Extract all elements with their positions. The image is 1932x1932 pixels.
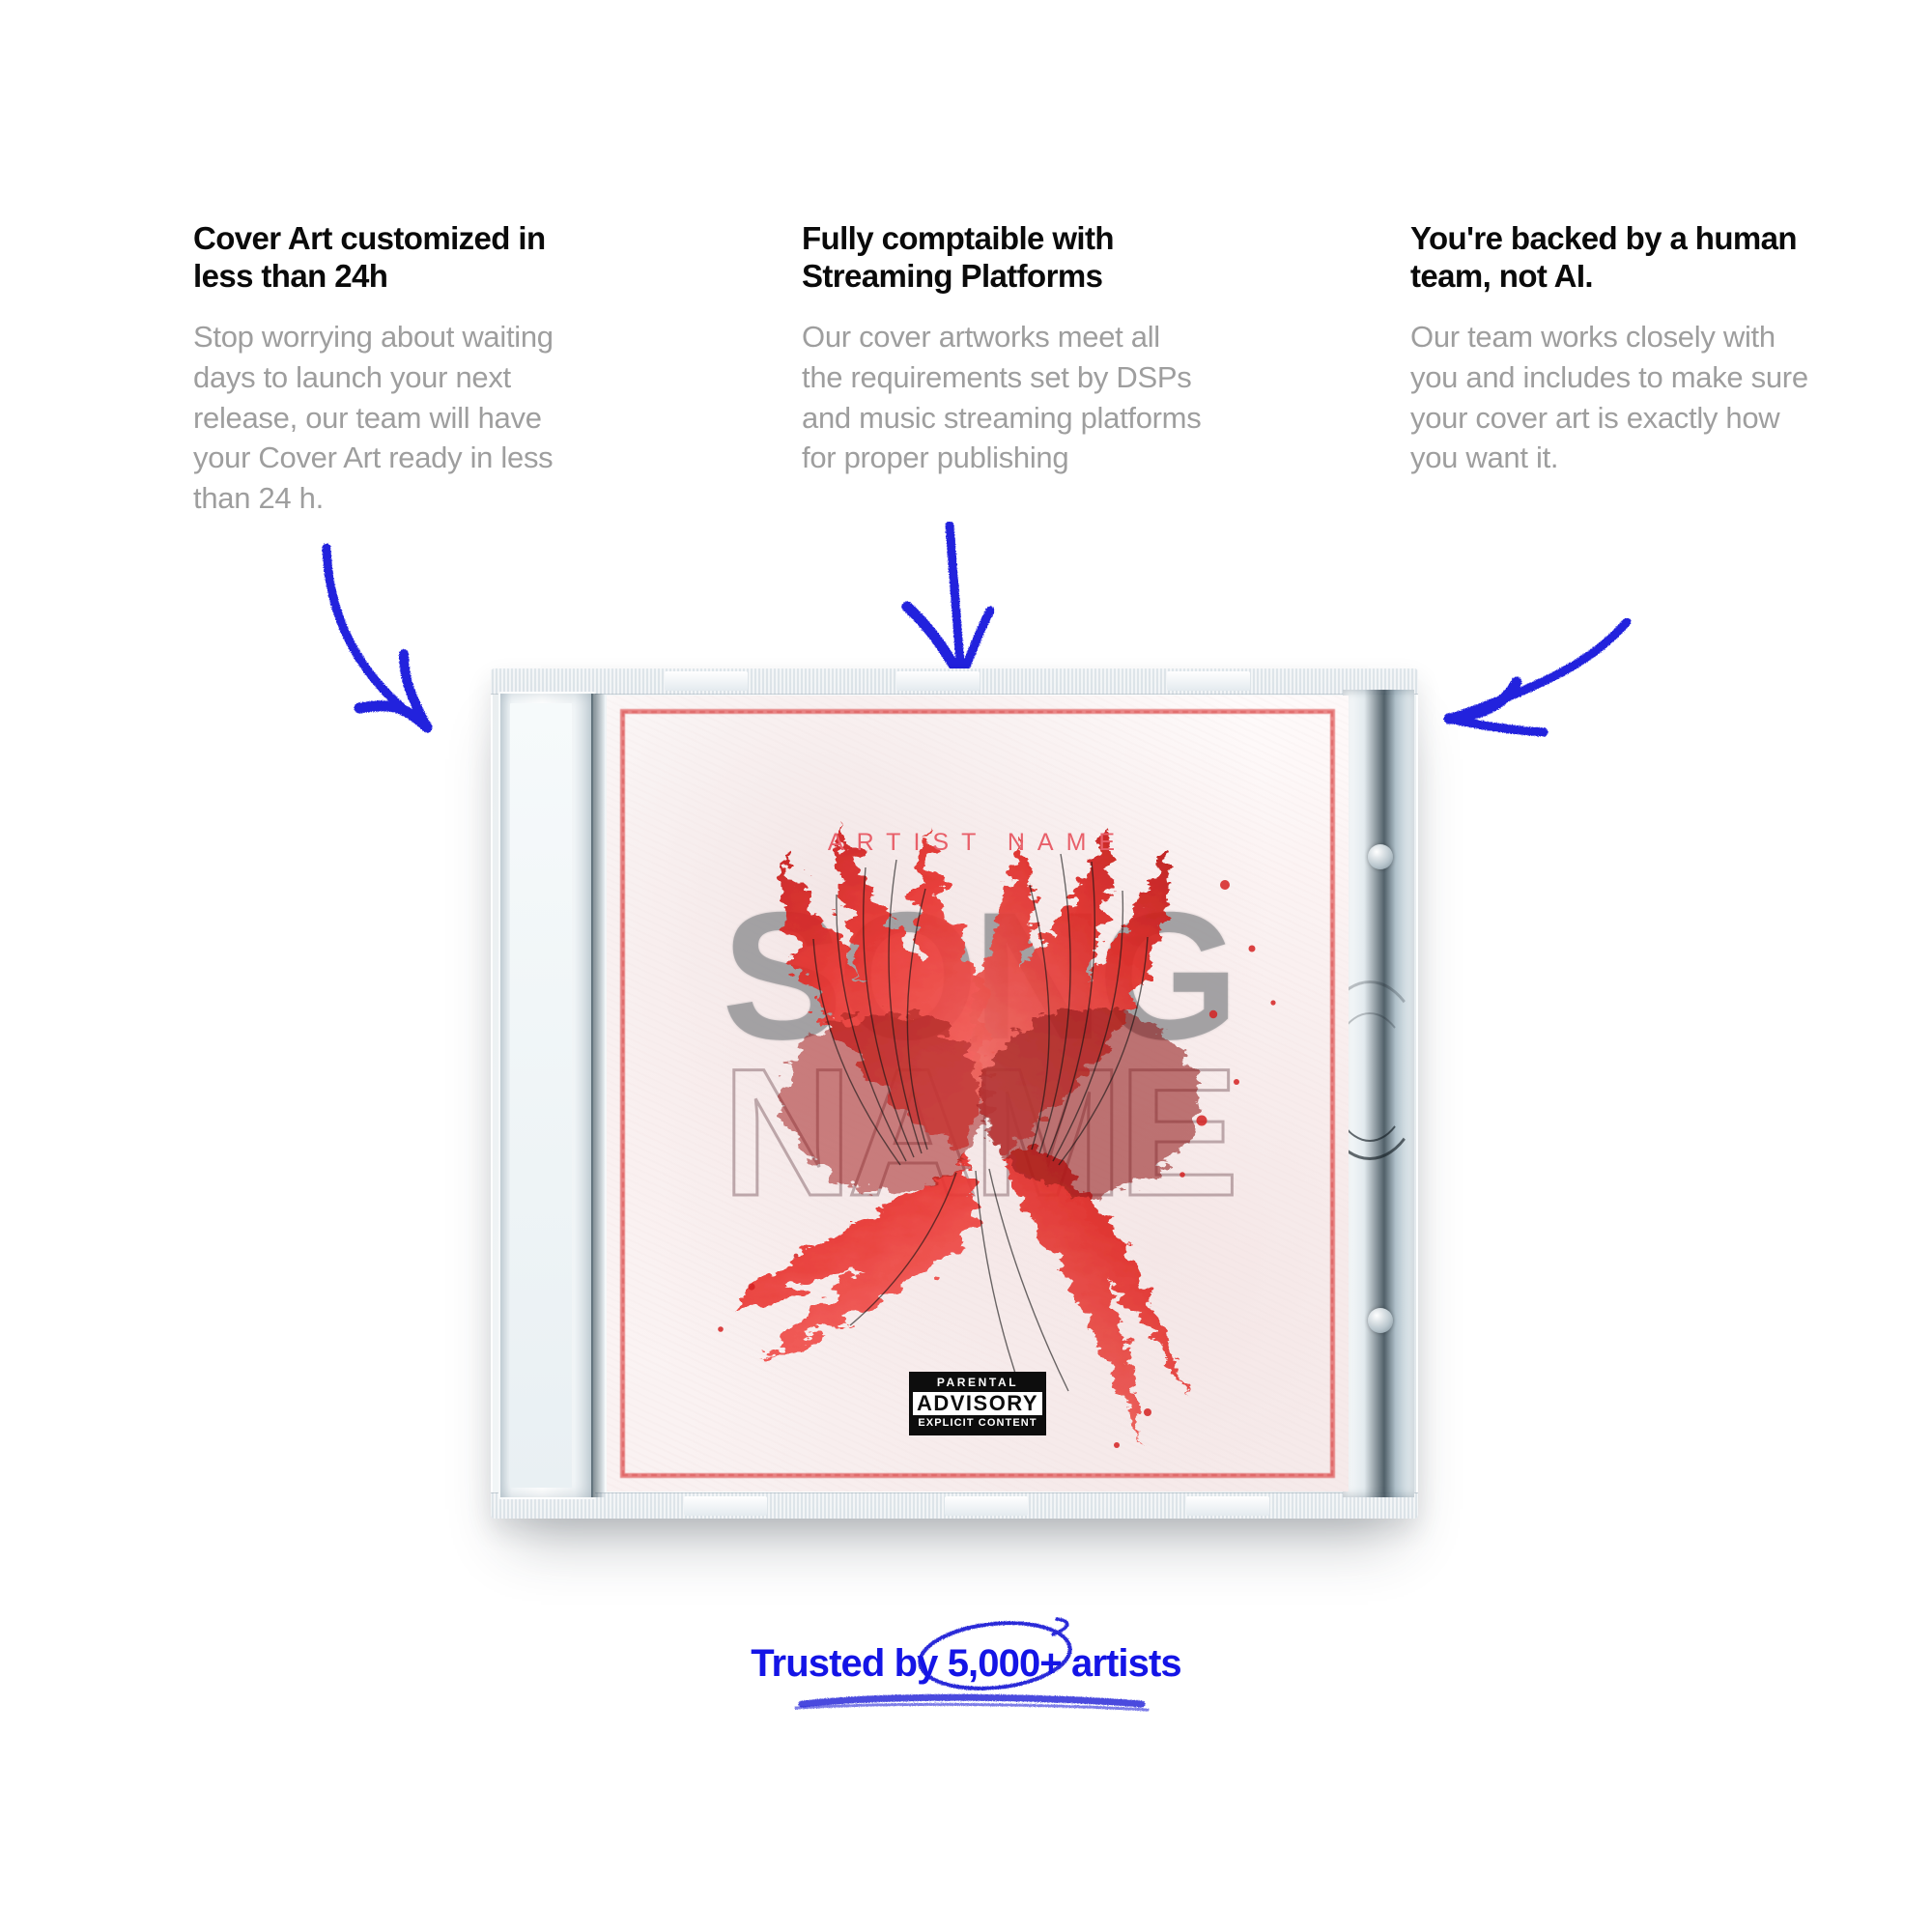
feature-columns: Cover Art customized in less than 24h St… — [0, 220, 1932, 529]
case-rail-bottom — [491, 1492, 1418, 1519]
trusted-label: Trusted by 5,000+ artists — [751, 1642, 1181, 1686]
feature-title-3: You're backed by a human team, not AI. — [1410, 220, 1816, 296]
album-cover-artwork: ARTIST NAME SONG NAME — [607, 696, 1349, 1492]
feature-card-2: Fully comptaible with Streaming Platform… — [802, 220, 1207, 478]
arrow-down-left-icon — [1420, 618, 1633, 782]
feature-title-2: Fully comptaible with Streaming Platform… — [802, 220, 1207, 296]
feature-card-3: You're backed by a human team, not AI. O… — [1410, 220, 1816, 478]
case-spine — [498, 692, 595, 1499]
feature-body-1: Stop worrying about waiting days to laun… — [193, 317, 599, 519]
feature-card-1: Cover Art customized in less than 24h St… — [193, 220, 599, 519]
advisory-line-1: PARENTAL — [913, 1376, 1042, 1390]
feature-body-2: Our cover artworks meet all the requirem… — [802, 317, 1207, 478]
parental-advisory-label: PARENTAL ADVISORY EXPLICIT CONTENT — [909, 1372, 1046, 1435]
feature-body-3: Our team works closely with you and incl… — [1410, 317, 1816, 478]
case-rail-top — [491, 668, 1418, 695]
feature-title-1: Cover Art customized in less than 24h — [193, 220, 599, 296]
trusted-badge: Trusted by 5,000+ artists — [0, 1642, 1932, 1686]
artist-name-text: ARTIST NAME — [607, 829, 1349, 857]
cd-jewel-case: ARTIST NAME SONG NAME — [491, 668, 1418, 1519]
advisory-line-2: ADVISORY — [913, 1392, 1042, 1415]
case-disc-tray-edge — [1343, 690, 1414, 1497]
advisory-line-3: EXPLICIT CONTENT — [913, 1417, 1042, 1431]
